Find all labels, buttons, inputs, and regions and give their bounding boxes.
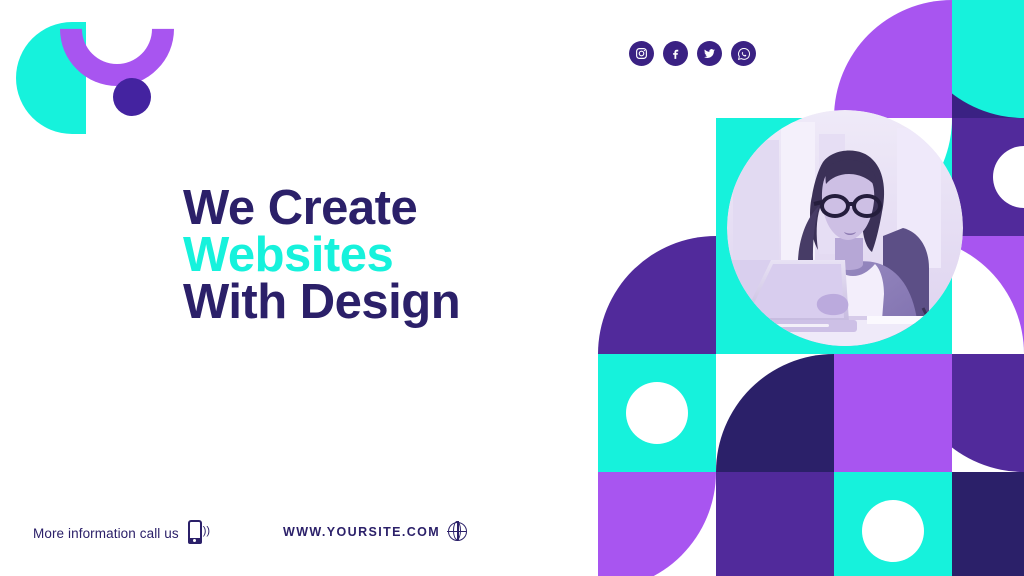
- portrait-photo: [727, 110, 963, 346]
- website-block[interactable]: WWW.YOURSITE.COM: [283, 522, 467, 541]
- call-us-label: More information call us: [33, 526, 179, 541]
- pattern-cell: [598, 236, 716, 354]
- pattern-cell: [952, 472, 1024, 576]
- navy-dot-icon: [113, 78, 151, 116]
- pattern-cell: [716, 354, 834, 472]
- pattern-cell: [952, 0, 1024, 118]
- pattern-cell: [834, 354, 952, 472]
- pattern-cell: [834, 0, 952, 118]
- page-title: We Create Websites With Design: [183, 185, 460, 326]
- mobile-phone-icon: )): [188, 520, 208, 546]
- pattern-cell: [598, 354, 716, 472]
- headline-line-1: We Create: [183, 185, 460, 232]
- pattern-cell: [598, 472, 716, 576]
- pattern-cell: [716, 472, 834, 576]
- headline-line-3: With Design: [183, 279, 460, 326]
- call-us-block: More information call us )): [33, 520, 208, 546]
- footer: More information call us )) WWW.YOURSITE…: [0, 518, 560, 552]
- pattern-cell: [952, 118, 1024, 236]
- poster-canvas: We Create Websites With Design: [0, 0, 1024, 576]
- pattern-cell: [834, 472, 952, 576]
- globe-icon: [448, 522, 467, 541]
- headline-line-2: Websites: [183, 232, 460, 279]
- pattern-cell: [952, 354, 1024, 472]
- website-url[interactable]: WWW.YOURSITE.COM: [283, 525, 440, 539]
- pattern-cell: [952, 236, 1024, 354]
